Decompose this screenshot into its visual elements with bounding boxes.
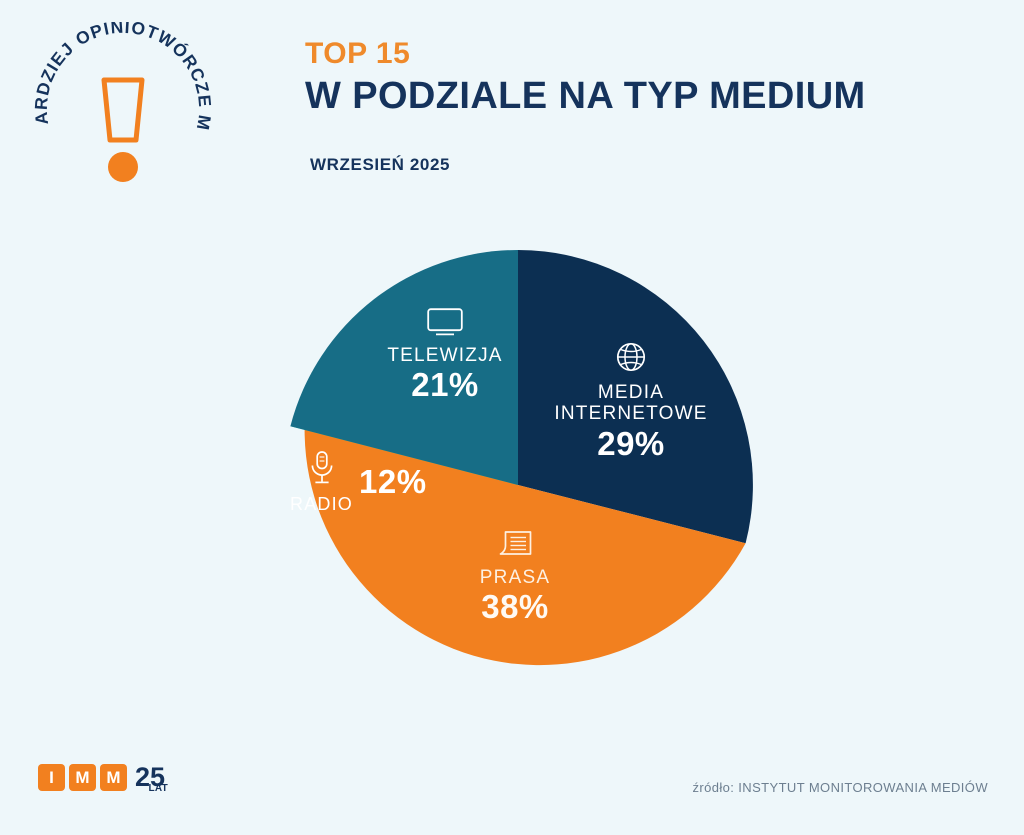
exclamation-dot-icon [108, 152, 138, 182]
imm-logo-letter-1: I [38, 764, 65, 791]
pie-chart-svg [280, 245, 760, 730]
imm-logo-letter-3: M [100, 764, 127, 791]
imm-logo-years-suffix: LAT [148, 784, 168, 794]
exclamation-bar-icon [104, 80, 142, 140]
badge-circular-text: NAJBARDZIEJ OPINIOTWÓRCZE MEDIA [28, 22, 215, 133]
imm-logo[interactable]: I M M 25 LAT [38, 764, 165, 791]
page-title: W PODZIALE NA TYP MEDIUM [305, 75, 965, 119]
pie-chart: MEDIA INTERNETOWE 29% TELEWIZJA 21% [280, 245, 760, 730]
badge-text-path: NAJBARDZIEJ OPINIOTWÓRCZE MEDIA [28, 22, 215, 133]
header-kicker: TOP 15 [305, 38, 965, 70]
imm-logo-years: 25 LAT [135, 764, 165, 791]
source-note: źródło: INSTYTUT MONITOROWANIA MEDIÓW [692, 780, 988, 795]
imm-logo-letter-2: M [69, 764, 96, 791]
badge-graphic: NAJBARDZIEJ OPINIOTWÓRCZE MEDIA [28, 22, 218, 207]
header-period: WRZESIEŃ 2025 [310, 155, 450, 175]
opiniotworcze-media-badge: NAJBARDZIEJ OPINIOTWÓRCZE MEDIA [28, 22, 218, 207]
header: TOP 15 W PODZIALE NA TYP MEDIUM [305, 38, 965, 118]
